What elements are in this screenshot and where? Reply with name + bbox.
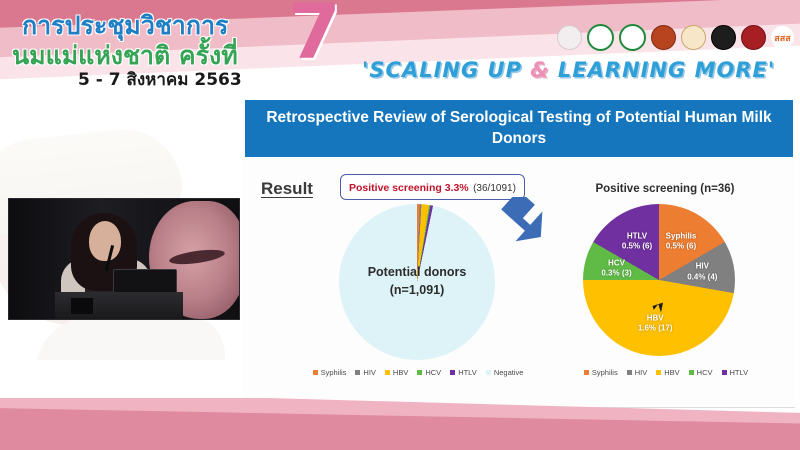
legend-item-hiv[interactable]: HIV <box>627 368 648 377</box>
presentation-slide: Retrospective Review of Serological Test… <box>243 100 795 405</box>
sponsor-logo-row: สสส <box>557 24 794 51</box>
conference-edition-number: 7 <box>288 0 341 70</box>
positive-screening-legend: SyphilisHIVHBVHCVHTLV <box>561 368 771 377</box>
conference-tagline: 'SCALING UP & LEARNING MORE' <box>362 58 775 82</box>
legend-label: HBV <box>393 368 408 377</box>
royal-emblem-logo <box>557 25 582 50</box>
legend-item-syphilis[interactable]: Syphilis <box>584 368 618 377</box>
legend-item-htlv[interactable]: HTLV <box>722 368 749 377</box>
donors-label-line2: (n=1,091) <box>339 281 495 299</box>
pie-label-value: 0.4% (4) <box>687 272 717 282</box>
pie-label-value: 0.5% (6) <box>666 242 697 252</box>
presenter-face <box>89 221 121 261</box>
positive-screening-title: Positive screening (n=36) <box>565 183 765 195</box>
pie-label-syphilis: Syphilis0.5% (6) <box>666 232 697 253</box>
pie-label-hcv: HCV0.3% (3) <box>601 258 631 279</box>
down-right-arrow-icon <box>497 197 549 245</box>
legend-swatch-hiv-icon <box>355 370 360 375</box>
tagline-part2: LEARNING MORE' <box>550 58 776 82</box>
legend-label: HBV <box>664 368 679 377</box>
pie-label-value: 0.3% (3) <box>601 269 631 279</box>
legend-swatch-syphilis-icon <box>313 370 318 375</box>
legend-label: Syphilis <box>592 368 618 377</box>
institute-logo <box>651 25 676 50</box>
bottom-pink-band <box>0 398 800 450</box>
legend-swatch-hcv-icon <box>689 370 694 375</box>
potential-donors-center-label: Potential donors (n=1,091) <box>339 263 495 299</box>
pie-label-name: HCV <box>601 258 631 268</box>
pie-label-hbv: HBV1.6% (17) <box>638 313 673 334</box>
pie-label-value: 1.6% (17) <box>638 324 673 334</box>
legend-label: HCV <box>425 368 441 377</box>
pie-label-name: Syphilis <box>666 232 697 242</box>
result-heading: Result <box>261 179 313 199</box>
legend-item-negative[interactable]: Negative <box>486 368 524 377</box>
legend-swatch-hiv-icon <box>627 370 632 375</box>
legend-item-hiv[interactable]: HIV <box>355 368 376 377</box>
pie-label-name: HIV <box>687 262 717 272</box>
pie-label-hiv: HIV0.4% (4) <box>687 262 717 283</box>
legend-swatch-hbv-icon <box>656 370 661 375</box>
legend-label: Negative <box>494 368 524 377</box>
black-seal-logo <box>711 25 736 50</box>
pie-label-name: HBV <box>638 313 673 323</box>
legend-item-hcv[interactable]: HCV <box>689 368 713 377</box>
conference-date-thai: 5 - 7 สิงหาคม 2563 <box>78 66 242 93</box>
legend-label: HTLV <box>458 368 477 377</box>
callout-highlight-text: Positive screening 3.3% <box>349 182 469 194</box>
legend-item-hbv[interactable]: HBV <box>656 368 679 377</box>
legend-swatch-negative-icon <box>486 370 491 375</box>
legend-label: HCV <box>697 368 713 377</box>
pie-label-htlv: HTLV0.5% (6) <box>622 232 652 253</box>
health-department-logo <box>619 24 646 51</box>
tagline-part1: 'SCALING UP <box>362 58 530 82</box>
legend-label: HIV <box>635 368 648 377</box>
legend-item-htlv[interactable]: HTLV <box>450 368 477 377</box>
positive-screening-pie: Syphilis0.5% (6)HIV0.4% (4)HBV1.6% (17)H… <box>583 204 735 356</box>
podium-plate <box>71 298 93 314</box>
ministry-health-logo <box>587 24 614 51</box>
legend-label: HIV <box>363 368 376 377</box>
presenter-video-feed[interactable] <box>8 198 240 320</box>
legend-swatch-htlv-icon <box>450 370 455 375</box>
tagline-ampersand: & <box>530 58 549 82</box>
legend-swatch-htlv-icon <box>722 370 727 375</box>
slide-body: Retrospective Review of Serological Test… <box>0 95 800 450</box>
legend-item-hbv[interactable]: HBV <box>385 368 408 377</box>
thaihealth-sss-logo: สสส <box>771 26 794 49</box>
legend-label: HTLV <box>730 368 749 377</box>
legend-swatch-hcv-icon <box>417 370 422 375</box>
legend-swatch-hbv-icon <box>385 370 390 375</box>
legend-swatch-syphilis-icon <box>584 370 589 375</box>
legend-label: Syphilis <box>321 368 347 377</box>
legend-item-syphilis[interactable]: Syphilis <box>313 368 347 377</box>
royal-college-logo <box>681 25 706 50</box>
potential-donors-legend: SyphilisHIVHBVHCVHTLVNegative <box>273 368 563 377</box>
pie-label-value: 0.5% (6) <box>622 242 652 252</box>
donors-label-line1: Potential donors <box>339 263 495 281</box>
conference-banner: การประชุมวิชาการ นมแม่แห่งชาติ ครั้งที่ … <box>0 0 800 95</box>
legend-item-hcv[interactable]: HCV <box>417 368 441 377</box>
pie-label-name: HTLV <box>622 232 652 242</box>
callout-fraction-text: (36/1091) <box>473 183 516 194</box>
red-crest-logo <box>741 25 766 50</box>
slide-title: Retrospective Review of Serological Test… <box>245 100 793 157</box>
podium <box>55 292 183 319</box>
slide-screenshot: การประชุมวิชาการ นมแม่แห่งชาติ ครั้งที่ … <box>0 0 800 450</box>
